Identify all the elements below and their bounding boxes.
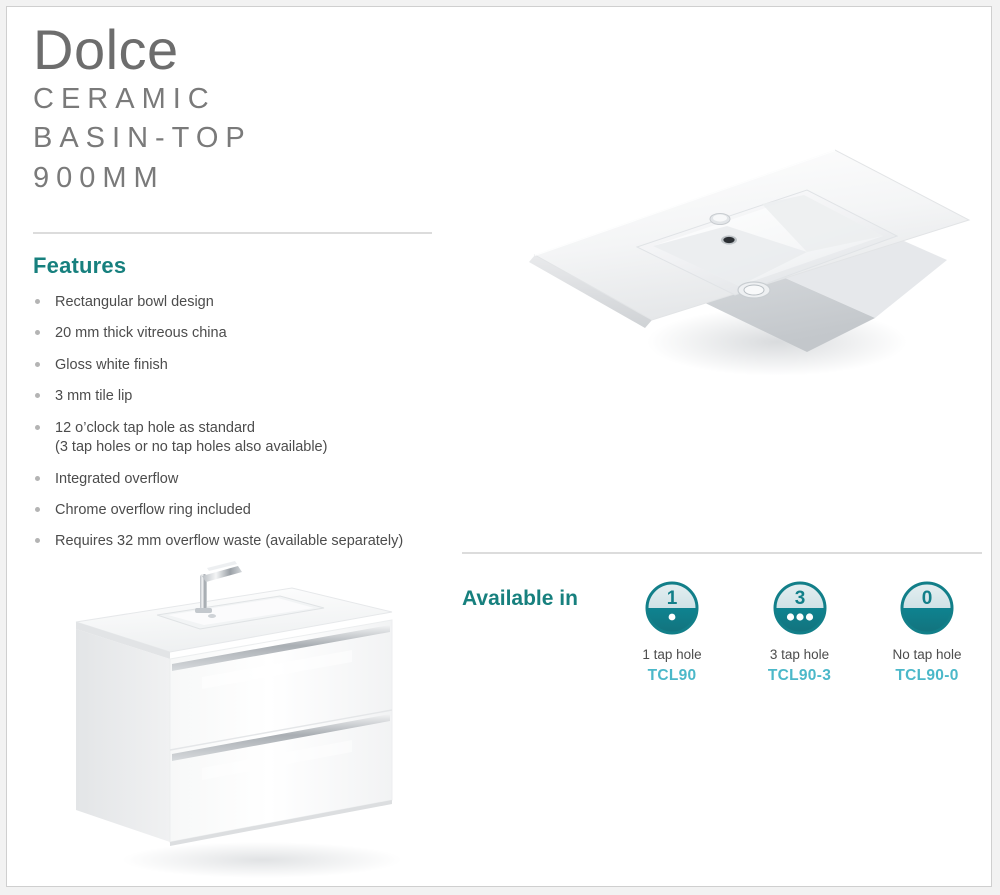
- product-size-line: 900MM: [33, 159, 453, 198]
- feature-item: Integrated overflow: [33, 470, 453, 489]
- tap-hole-number: 1: [667, 588, 678, 609]
- tap-hole-option[interactable]: 0No tap holeTCL90-0: [867, 579, 987, 685]
- tap-hole-badge-icon: 1: [643, 579, 701, 637]
- basin-top-image: [477, 142, 987, 402]
- feature-text: Gloss white finish: [55, 357, 168, 373]
- available-in-heading: Available in: [462, 587, 578, 611]
- title-divider: [33, 232, 432, 234]
- features-section: Features Rectangular bowl design20 mm th…: [33, 253, 453, 564]
- bullet-icon: [35, 330, 40, 335]
- feature-text: 20 mm thick vitreous china: [55, 325, 227, 341]
- available-divider: [462, 552, 982, 554]
- tap-hole-label: 1 tap hole: [612, 647, 732, 662]
- tap-hole-options: 11 tap holeTCL9033 tap holeTCL90-30No ta…: [612, 579, 987, 685]
- tap-hole-number: 3: [794, 588, 805, 609]
- feature-item: 3 mm tile lip: [33, 387, 453, 406]
- feature-item: Gloss white finish: [33, 356, 453, 375]
- bullet-icon: [35, 538, 40, 543]
- product-code: TCL90: [612, 667, 732, 685]
- product-title-block: Dolce CERAMIC BASIN-TOP 900MM: [33, 21, 453, 198]
- feature-subtext: (3 tap holes or no tap holes also availa…: [55, 438, 453, 457]
- features-list: Rectangular bowl design20 mm thick vitre…: [33, 293, 453, 552]
- tap-hole-option[interactable]: 11 tap holeTCL90: [612, 579, 732, 685]
- feature-item: Chrome overflow ring included: [33, 501, 453, 520]
- tap-hole-badge-icon: 0: [898, 579, 956, 637]
- features-heading: Features: [33, 253, 453, 279]
- product-type-line-2: BASIN-TOP: [33, 119, 453, 158]
- bullet-icon: [35, 476, 40, 481]
- brand-name: Dolce: [33, 21, 453, 80]
- feature-text: 3 mm tile lip: [55, 388, 132, 404]
- tap-hole-label: No tap hole: [867, 647, 987, 662]
- bullet-icon: [35, 425, 40, 430]
- tap-hole-label: 3 tap hole: [740, 647, 860, 662]
- feature-text: 12 o’clock tap hole as standard: [55, 420, 255, 436]
- feature-item: 12 o’clock tap hole as standard(3 tap ho…: [33, 419, 453, 458]
- sheet-body: Dolce CERAMIC BASIN-TOP 900MM Features R…: [6, 6, 992, 887]
- product-code: TCL90-0: [867, 667, 987, 685]
- tap-hole-number: 0: [922, 588, 933, 609]
- feature-item: Rectangular bowl design: [33, 293, 453, 312]
- feature-text: Rectangular bowl design: [55, 294, 214, 310]
- bullet-icon: [35, 393, 40, 398]
- bullet-icon: [35, 507, 40, 512]
- bullet-icon: [35, 362, 40, 367]
- product-spec-sheet: Dolce CERAMIC BASIN-TOP 900MM Features R…: [0, 0, 1000, 895]
- tap-hole-badge-icon: 3: [771, 579, 829, 637]
- feature-text: Chrome overflow ring included: [55, 502, 251, 518]
- feature-text: Integrated overflow: [55, 471, 178, 487]
- product-type-line-1: CERAMIC: [33, 80, 453, 119]
- tap-hole-option[interactable]: 33 tap holeTCL90-3: [740, 579, 860, 685]
- product-code: TCL90-3: [740, 667, 860, 685]
- feature-item: 20 mm thick vitreous china: [33, 324, 453, 343]
- bullet-icon: [35, 299, 40, 304]
- vanity-unit-image: [52, 542, 442, 882]
